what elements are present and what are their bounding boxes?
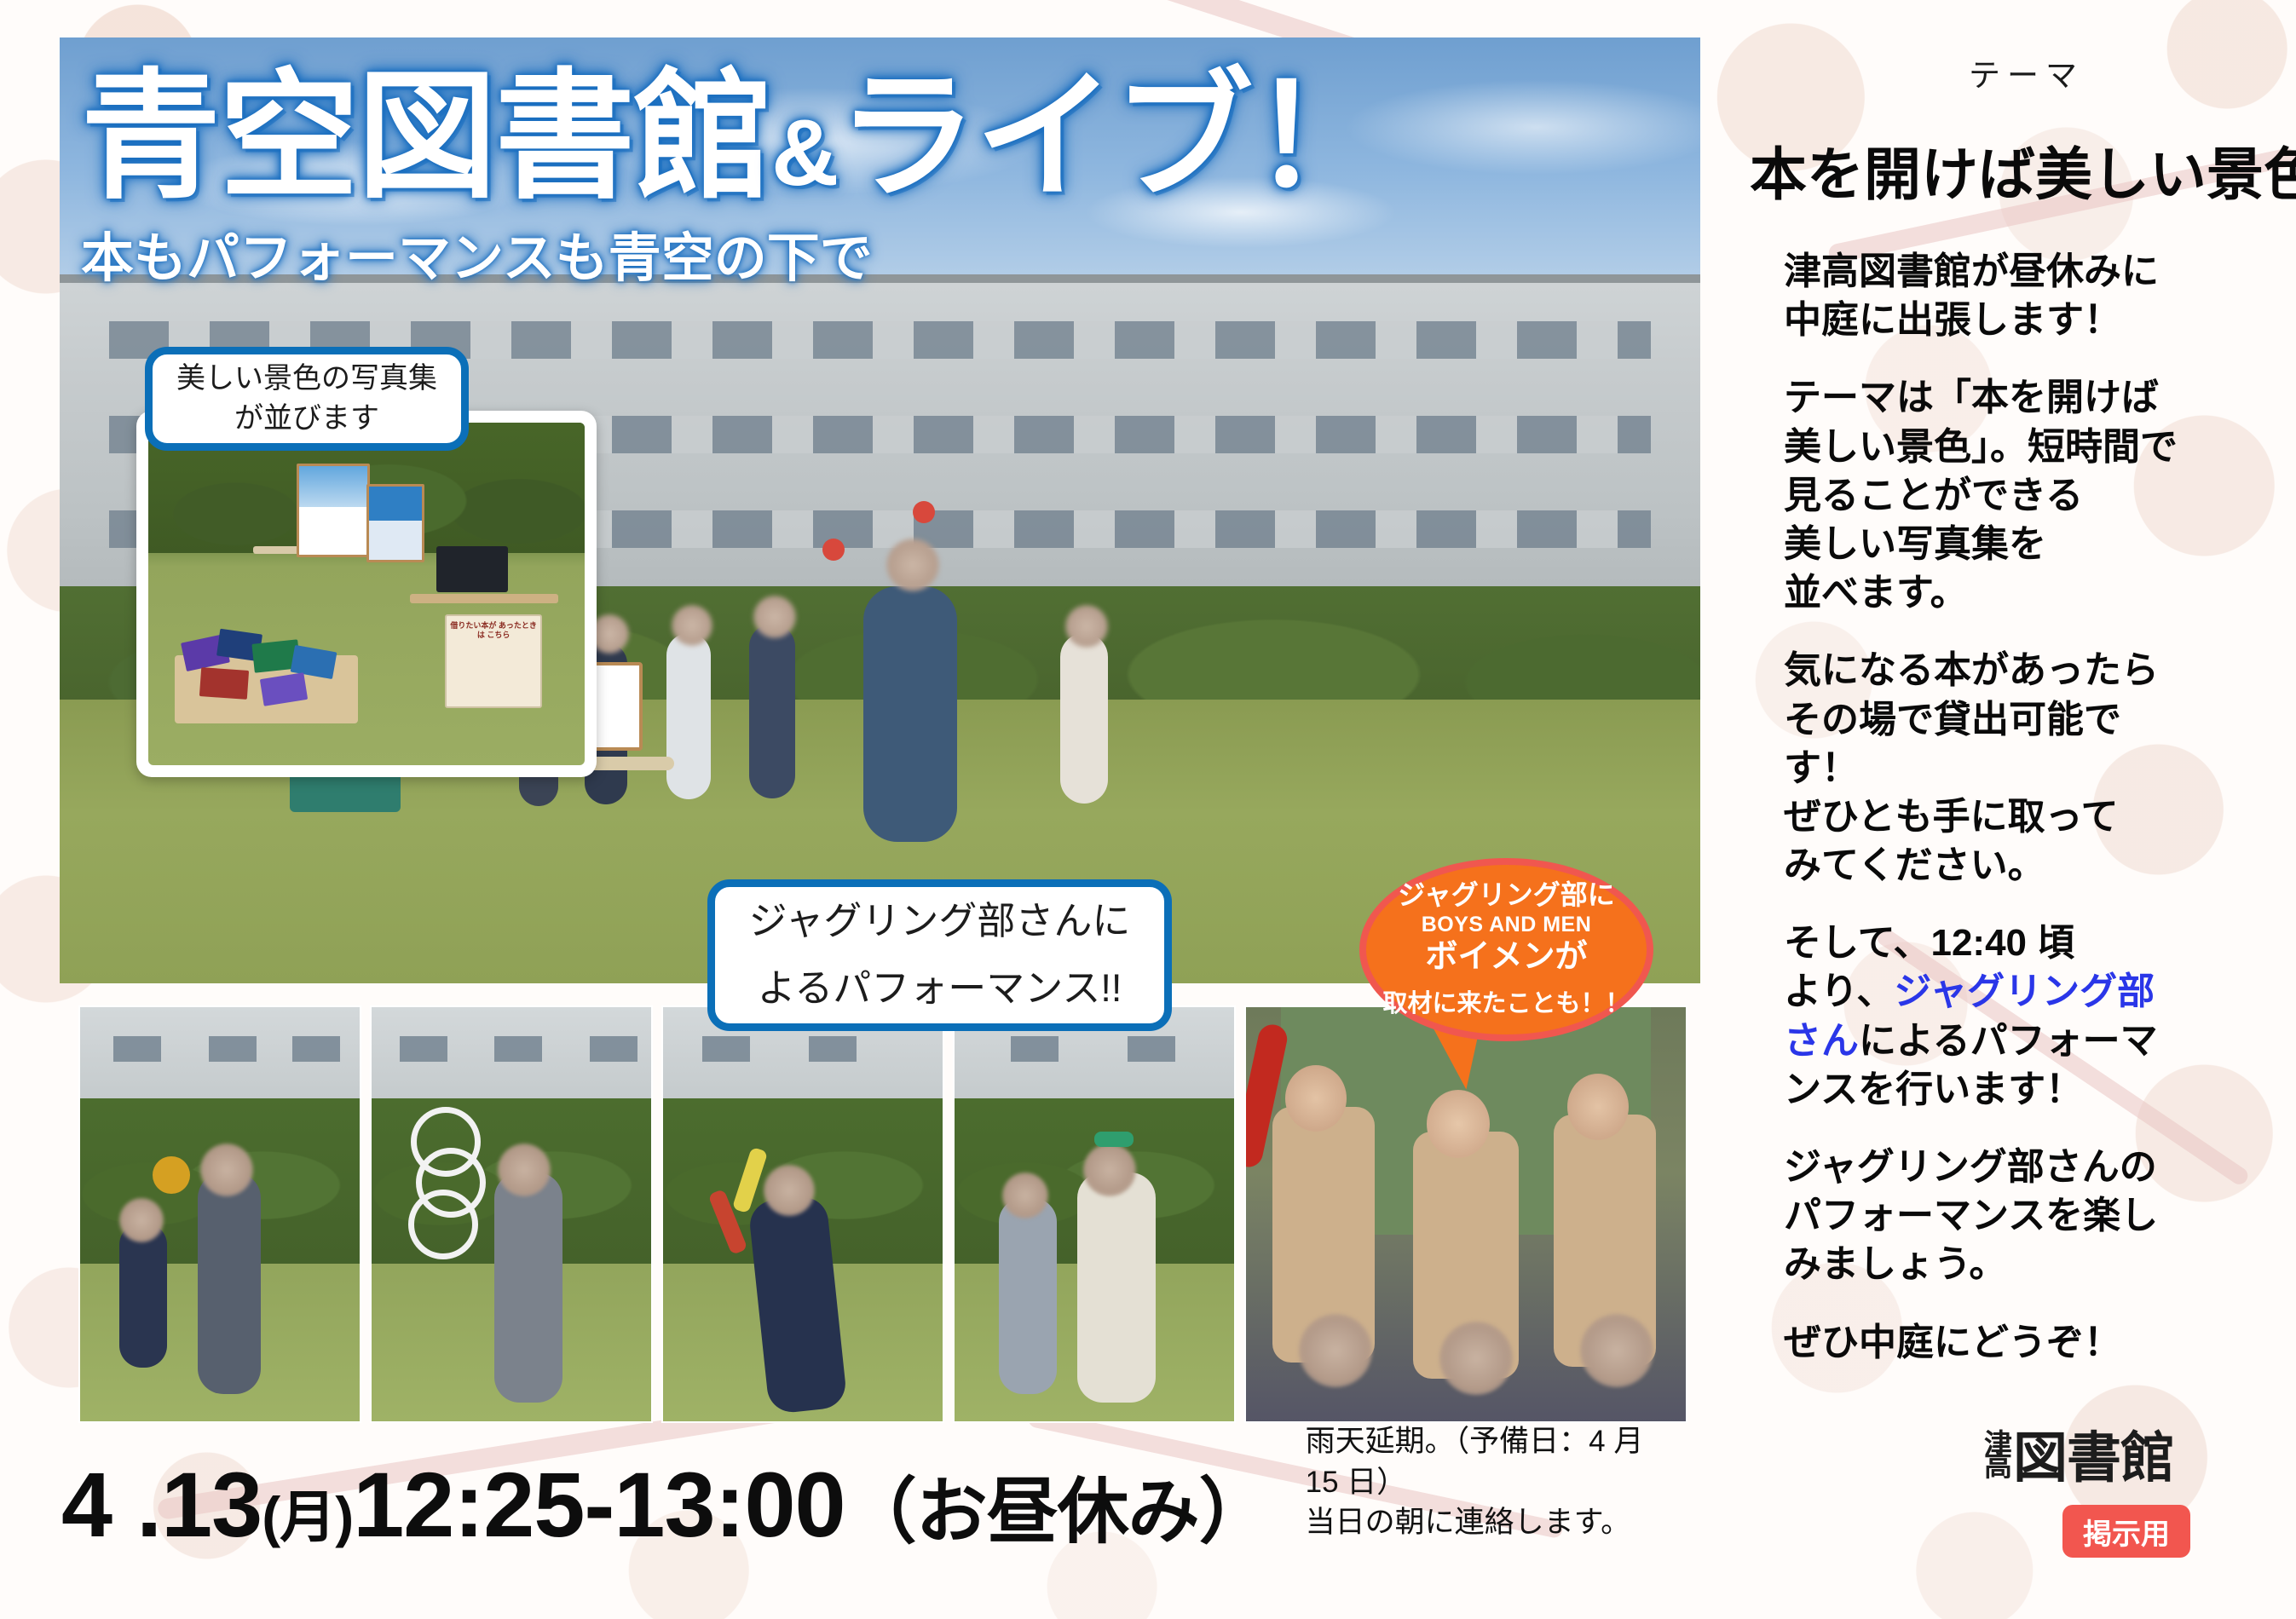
event-lunch-note: （お昼休み） [845, 1472, 1270, 1552]
callout-juggling-performance: ジャグリング部さんに よるパフォーマンス!! [707, 879, 1172, 1031]
inset-photo-frame: 借りたい本が あったときは こちら [136, 411, 597, 777]
strip-window [1011, 1036, 1059, 1062]
event-weekday: (月) [262, 1485, 353, 1548]
inset-borrow-sign: 借りたい本が あったときは こちら [445, 614, 542, 708]
strip-face-blur [200, 1144, 253, 1196]
strip-ring [408, 1190, 478, 1259]
strip-face-blur [498, 1144, 551, 1196]
library-logo-text: 津 高 図書館 [1984, 1414, 2265, 1493]
sidebar-paragraph-5: ぜひ中庭にどうぞ！ [1784, 1318, 2295, 1367]
hero-face-blur [1065, 605, 1108, 648]
strip-face-blur [1439, 1322, 1513, 1395]
hero-juggling-ball [913, 501, 935, 523]
hero-face-blur [753, 596, 796, 638]
event-date-bar: 4 .13(月)12:25-13:00（お昼休み） 雨天延期。（予備日：4 月 … [61, 1440, 1664, 1551]
bubble-line1: ジャグリング部に [1398, 880, 1614, 911]
sidebar-paragraph-performance: そして、12:40 頃 より、ジャグリング部 さんによるパフォーマ ンスを行いま… [1784, 919, 2295, 1114]
library-logo: 津 高 図書館 掲示用 [1984, 1414, 2265, 1593]
logo-library-name: 図書館 [2013, 1414, 2174, 1493]
inset-poster-board [366, 484, 424, 562]
strip-window [590, 1036, 637, 1062]
strip-window [400, 1036, 447, 1062]
event-time: 12:25-13:00 [353, 1453, 845, 1556]
posting-badge: 掲示用 [2062, 1505, 2190, 1558]
inset-board-sky [299, 466, 367, 507]
logo-school-abbrev: 津 高 [1984, 1433, 2011, 1477]
strip-window [809, 1036, 857, 1062]
hero-face-blur [672, 605, 712, 646]
strip-window [292, 1036, 340, 1062]
hero-person [749, 624, 795, 798]
sidebar-paragraph-3: 気になる本があったら その場で貸出可能で す！ ぜひとも手に取って みてください… [1784, 646, 2295, 890]
sidebar-paragraph-4: ジャグリング部さんの パフォーマンスを楽し みましょう。 [1784, 1143, 2295, 1289]
title-main-text: 青空図書館 [81, 59, 771, 215]
inset-board-sky [369, 487, 422, 521]
bubble-line4: 取材に来たことも！！ [1382, 989, 1630, 1019]
rain-postponement-note: 雨天延期。（予備日：4 月 15 日） 当日の朝に連絡します。 [1306, 1421, 1664, 1542]
right-column: テーマ 本を開けば美しい景色 津高図書館が昼休みに 中庭に出張します！ テーマは… [1734, 0, 2296, 1619]
bubble-line3: ボイメンが [1425, 938, 1587, 977]
callout-photo-line2: が並びます [234, 399, 379, 439]
hero-juggler [863, 586, 957, 842]
sidebar-body: 津高図書館が昼休みに 中庭に出張します！ テーマは「本を開けば 美しい景色」。短… [1784, 247, 2295, 1396]
theme-label: テーマ [1969, 49, 2084, 95]
strip-face-blur [1083, 1144, 1136, 1196]
strip-figure [198, 1172, 261, 1394]
event-month-day: 4 .13 [61, 1453, 262, 1556]
strip-face-blur [1580, 1314, 1653, 1387]
callout-juggling-line2: よるパフォーマンス!! [758, 955, 1122, 1023]
strip-figure [494, 1172, 562, 1403]
strip-face-blur [1299, 1314, 1372, 1387]
strip-performer-face [1285, 1065, 1347, 1132]
hero-person [1060, 633, 1108, 804]
strip-figure [119, 1223, 167, 1368]
strip-photo-juggling [661, 1005, 944, 1423]
inset-welcome-board [297, 464, 370, 557]
strip-hat [1094, 1132, 1134, 1147]
strip-performer-face [1567, 1074, 1629, 1140]
left-column: 青空図書館&ライブ！ 本もパフォーマンスも青空の下で 借りたい本が あったときは… [34, 19, 1700, 1602]
title-block: 青空図書館&ライブ！ 本もパフォーマンスも青空の下で [81, 66, 1389, 291]
inset-book [199, 668, 249, 700]
strip-window [209, 1036, 257, 1062]
callout-photo-line1: 美しい景色の写真集 [176, 359, 437, 399]
strip-photo-diabolo [78, 1005, 361, 1423]
strip-figure [1077, 1172, 1156, 1403]
strip-window [1128, 1036, 1175, 1062]
callout-photo-collection: 美しい景色の写真集 が並びます [145, 347, 469, 451]
poster-title: 青空図書館&ライブ！ [81, 66, 1389, 208]
speech-bubble-boysandmen: ジャグリング部に BOYS AND MEN ボイメンが 取材に来たことも！！ [1359, 858, 1653, 1041]
theme-heading: 本を開けば美しい景色 [1750, 143, 2295, 207]
strip-photo-rings [370, 1005, 653, 1423]
callout-juggling-line1: ジャグリング部さんに [749, 888, 1131, 955]
strip-photo-balls [953, 1005, 1236, 1423]
title-live-text: ライブ！ [837, 59, 1389, 215]
bubble-line2: BOYS AND MEN [1422, 911, 1592, 939]
inset-laptop [436, 546, 508, 592]
sidebar-paragraph-1: 津高図書館が昼休みに 中庭に出張します！ [1784, 247, 2295, 344]
sidebar-paragraph-2: テーマは「本を開けば 美しい景色」。短時間で 見ることができる 美しい写真集を … [1784, 373, 2295, 617]
hero-person [666, 633, 711, 799]
poster-root: 青空図書館&ライブ！ 本もパフォーマンスも青空の下で 借りたい本が あったときは… [0, 0, 2296, 1619]
strip-figure [999, 1198, 1057, 1394]
strip-window [113, 1036, 161, 1062]
event-datetime: 4 .13(月)12:25-13:00（お昼休み） [61, 1459, 1270, 1551]
strip-window [494, 1036, 542, 1062]
poster-subtitle: 本もパフォーマンスも青空の下で [81, 215, 1389, 291]
strip-face-blur [764, 1165, 815, 1216]
inset-photo: 借りたい本が あったときは こちら [148, 423, 585, 765]
inset-laptop-table [410, 594, 558, 603]
logo-kanji-kou: 高 [1984, 1455, 2011, 1478]
strip-face-blur [1002, 1172, 1048, 1219]
strip-face-blur [119, 1198, 164, 1242]
strip-performer-face [1427, 1090, 1490, 1158]
strip-diabolo [153, 1156, 190, 1194]
strip-window [702, 1036, 750, 1062]
title-ampersand: & [771, 101, 837, 205]
